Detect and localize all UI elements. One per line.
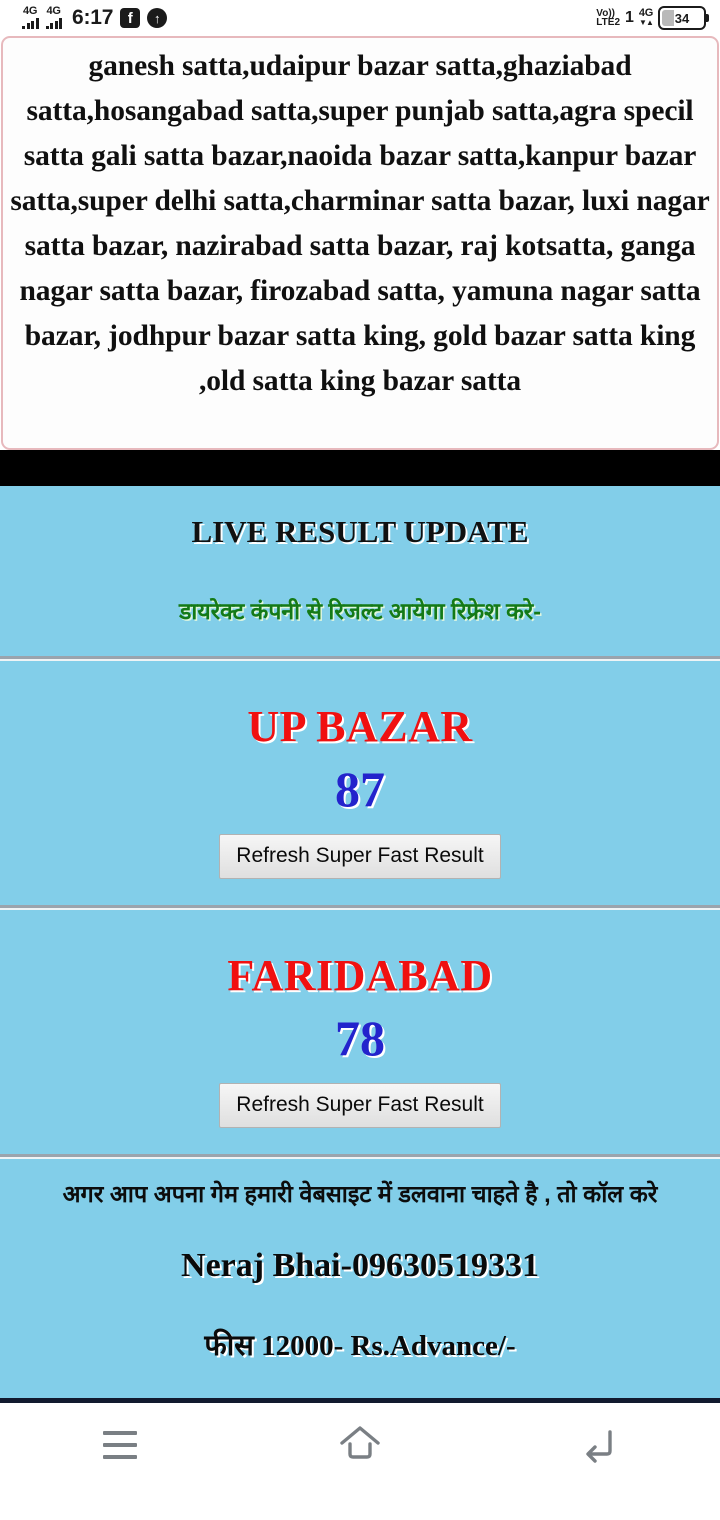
android-navigation-bar bbox=[0, 1403, 720, 1487]
signal-strength-icon-1: 4G bbox=[22, 7, 39, 29]
mobile-data-icon: 4G ▼▲ bbox=[639, 9, 653, 27]
volte-icon: Vo)) LTE2 bbox=[596, 9, 620, 27]
keyword-text: ganesh satta,udaipur bazar satta,ghaziab… bbox=[7, 44, 713, 404]
volte-bottom-label: LTE2 bbox=[596, 18, 620, 27]
menu-icon bbox=[103, 1431, 137, 1459]
market-result-number: 78 bbox=[0, 1009, 720, 1067]
contact-name-phone[interactable]: Neraj Bhai-09630519331 bbox=[0, 1213, 720, 1285]
contact-fee-text: फीस 12000- Rs.Advance/- bbox=[0, 1285, 720, 1378]
network-type-label-2: 4G bbox=[47, 6, 61, 17]
status-bar-clock: 6:17 bbox=[72, 6, 113, 30]
data-network-label: 4G bbox=[639, 9, 653, 18]
data-transfer-arrows-icon: ▼▲ bbox=[639, 18, 653, 27]
refresh-result-button[interactable]: Refresh Super Fast Result bbox=[219, 1083, 500, 1128]
refresh-notice-text: डायरेक्ट कंपनी से रिजल्ट आयेगा रिफ्रेश क… bbox=[0, 550, 720, 656]
contact-invite-text: अगर आप अपना गेम हमारी वेबसाइट में डलवाना… bbox=[0, 1175, 720, 1213]
home-button[interactable] bbox=[300, 1415, 420, 1475]
facebook-icon: f bbox=[120, 8, 140, 28]
back-button[interactable] bbox=[540, 1415, 660, 1475]
battery-icon: 34 bbox=[658, 6, 706, 30]
market-card-up-bazar: UP BAZAR 87 Refresh Super Fast Result bbox=[0, 661, 720, 905]
signal-bars-2 bbox=[46, 18, 63, 29]
home-icon bbox=[337, 1423, 383, 1468]
keyword-panel: ganesh satta,udaipur bazar satta,ghaziab… bbox=[1, 36, 719, 450]
recent-apps-button[interactable] bbox=[60, 1415, 180, 1475]
live-update-header: LIVE RESULT UPDATE डायरेक्ट कंपनी से रिज… bbox=[0, 486, 720, 656]
market-name: UP BAZAR bbox=[0, 701, 720, 752]
status-bar-left: 4G 4G 6:17 f ↑ bbox=[22, 6, 167, 30]
sim-slot-indicator: 1 bbox=[625, 10, 634, 26]
status-bar-right: Vo)) LTE2 1 4G ▼▲ 34 bbox=[596, 6, 706, 30]
signal-strength-icon-2: 4G bbox=[46, 7, 63, 29]
live-result-title: LIVE RESULT UPDATE bbox=[0, 486, 720, 550]
black-separator-band bbox=[0, 450, 720, 486]
battery-fill bbox=[662, 10, 674, 26]
refresh-result-button[interactable]: Refresh Super Fast Result bbox=[219, 834, 500, 879]
market-card-faridabad: FARIDABAD 78 Refresh Super Fast Result bbox=[0, 910, 720, 1154]
market-result-number: 87 bbox=[0, 760, 720, 818]
signal-bars-1 bbox=[22, 18, 39, 29]
back-icon bbox=[577, 1423, 623, 1468]
contact-section: अगर आप अपना गेम हमारी वेबसाइट में डलवाना… bbox=[0, 1159, 720, 1398]
status-bar: 4G 4G 6:17 f ↑ Vo)) LTE2 1 4G ▼▲ 34 bbox=[0, 0, 720, 36]
battery-level-label: 34 bbox=[675, 11, 689, 26]
upload-arrow-icon: ↑ bbox=[147, 8, 167, 28]
market-name: FARIDABAD bbox=[0, 950, 720, 1001]
network-type-label-1: 4G bbox=[23, 6, 37, 17]
main-content: LIVE RESULT UPDATE डायरेक्ट कंपनी से रिज… bbox=[0, 486, 720, 1398]
